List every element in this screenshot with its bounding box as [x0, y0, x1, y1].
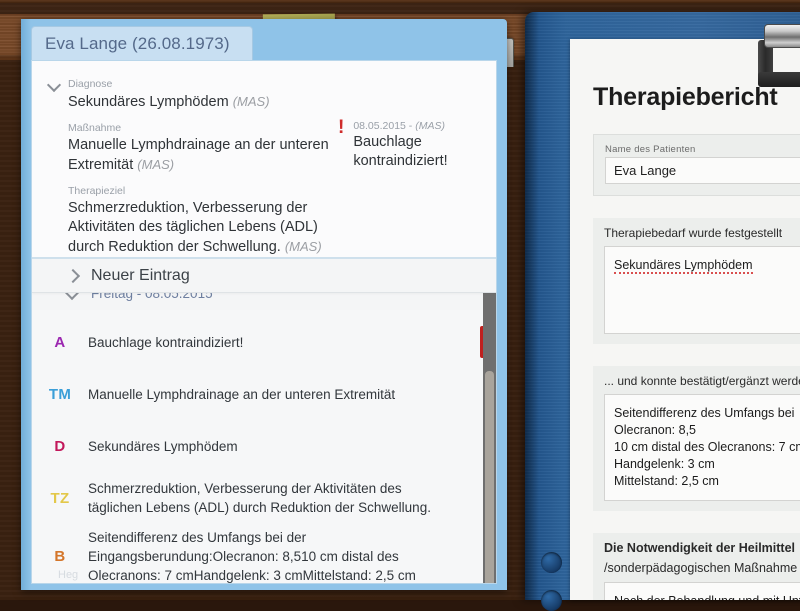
necessity-subheading: /sonderpädagogischen Maßnahme [604, 561, 800, 575]
field-massnahme-text: Manuelle Lymphdrainage an der unteren Ex… [68, 137, 329, 173]
new-entry-button[interactable]: Neuer Eintrag [32, 258, 496, 293]
warning-date-text: 08.05.2015 - [353, 120, 415, 132]
field-diagnose-author: (MAS) [233, 94, 270, 109]
need-textarea[interactable]: Sekundäres Lymphödem [604, 246, 800, 334]
chevron-down-icon[interactable] [48, 77, 61, 90]
list-item[interactable]: D Sekundäres Lymphödem [32, 420, 496, 472]
entry-badge: A [32, 334, 88, 351]
footer-hint: Heg [58, 569, 78, 581]
field-diagnose-text: Sekundäres Lymphödem [68, 94, 229, 110]
field-diagnose-value: Sekundäres Lymphödem (MAS) [68, 92, 358, 112]
chevron-down-icon [66, 293, 79, 298]
patient-name-group: Name des Patienten Eva Lange [593, 134, 800, 196]
day-group-header[interactable]: Freitag - 08.05.2015 [32, 293, 496, 310]
need-heading: Therapiebedarf wurde festgestellt [604, 226, 800, 240]
clipboard: Therapiebericht Name des Patienten Eva L… [525, 12, 800, 600]
entry-badge: D [32, 438, 88, 455]
scrollbar-thumb[interactable] [485, 371, 494, 584]
entry-badge: TM [32, 386, 88, 403]
exclamation-icon: ! [338, 119, 344, 171]
field-massnahme-author: (MAS) [137, 157, 174, 172]
necessity-textarea[interactable]: Nach der Behandlung und mit Unter rechte… [604, 582, 800, 600]
field-diagnose-label: Diagnose [68, 77, 358, 91]
metal-clip-icon[interactable] [752, 18, 800, 82]
field-therapieziel-value: Schmerzreduktion, Verbesserung der Aktiv… [68, 199, 358, 257]
vertical-scrollbar[interactable] [483, 259, 496, 583]
clipboard-shadow [525, 12, 539, 600]
clip-foot [758, 72, 800, 87]
warning-text: Bauchlage kontraindiziert! [353, 133, 490, 171]
list-item[interactable]: A Bauchlage kontraindiziert! ! [32, 316, 496, 368]
field-therapieziel: Therapieziel Schmerzreduktion, Verbesser… [68, 184, 358, 257]
need-value: Sekundäres Lymphödem [614, 258, 753, 274]
field-massnahme-label: Maßnahme [68, 121, 358, 135]
need-section: Therapiebedarf wurde festgestellt Sekund… [593, 218, 800, 344]
entry-badge: B [32, 548, 88, 565]
patient-card: Eva Lange (26.08.1973) Diagnose Sekundär… [21, 19, 507, 590]
patient-card-body: Diagnose Sekundäres Lymphödem (MAS) Maßn… [31, 60, 497, 584]
confirm-heading: ... und konnte bestätigt/ergänzt werden [604, 374, 800, 388]
entry-text: Sekundäres Lymphödem [88, 437, 268, 456]
necessity-section: Die Notwendigkeit der Heilmittel /sonder… [593, 533, 800, 600]
entry-text: Seitendifferenz des Umfangs bei der Eing… [88, 528, 480, 584]
field-therapieziel-label: Therapieziel [68, 184, 358, 198]
summary-panel: Diagnose Sekundäres Lymphödem (MAS) Maßn… [32, 61, 496, 258]
warning-date: 08.05.2015 - (MAS) [353, 119, 490, 133]
summary-fields: Diagnose Sekundäres Lymphödem (MAS) Maßn… [68, 77, 358, 266]
clip-barrel [764, 24, 800, 48]
binder-hole-2 [541, 590, 562, 611]
entry-badge: TZ [32, 490, 88, 507]
warning-author: (MAS) [415, 120, 445, 132]
binder-hole-1 [541, 552, 562, 573]
day-group-label: Freitag - 08.05.2015 [91, 293, 213, 301]
list-item[interactable]: B Seitendifferenz des Umfangs bei der Ei… [32, 524, 496, 584]
entry-text: Bauchlage kontraindiziert! [88, 333, 273, 352]
new-entry-label: Neuer Eintrag [91, 267, 190, 285]
field-massnahme-value: Manuelle Lymphdrainage an der unteren Ex… [68, 136, 358, 175]
patient-name-label: Name des Patienten [605, 144, 800, 155]
therapy-report-document: Therapiebericht Name des Patienten Eva L… [570, 39, 800, 600]
field-therapieziel-text: Schmerzreduktion, Verbesserung der Aktiv… [68, 200, 318, 255]
patient-card-title-tab[interactable]: Eva Lange (26.08.1973) [31, 26, 253, 60]
warning-note: ! 08.05.2015 - (MAS) Bauchlage kontraind… [338, 119, 490, 171]
entry-text: Manuelle Lymphdrainage an der unteren Ex… [88, 385, 425, 404]
chevron-right-icon [66, 269, 79, 282]
confirm-section: ... und konnte bestätigt/ergänzt werden … [593, 366, 800, 511]
necessity-heading: Die Notwendigkeit der Heilmittel [604, 541, 800, 555]
entry-text: Schmerzreduktion, Verbesserung der Aktiv… [88, 479, 480, 517]
patient-name-input[interactable]: Eva Lange [605, 157, 800, 184]
field-massnahme: Maßnahme Manuelle Lymphdrainage an der u… [68, 121, 358, 175]
field-diagnose: Diagnose Sekundäres Lymphödem (MAS) [68, 77, 358, 112]
list-item[interactable]: TZ Schmerzreduktion, Verbesserung der Ak… [32, 472, 496, 524]
page-title: Eva Lange (26.08.1973) [45, 34, 230, 54]
list-item[interactable]: TM Manuelle Lymphdrainage an der unteren… [32, 368, 496, 420]
confirm-textarea[interactable]: Seitendifferenz des Umfangs bei Olecrano… [604, 394, 800, 501]
entry-list: A Bauchlage kontraindiziert! ! TM Manuel… [32, 310, 496, 584]
field-therapieziel-author: (MAS) [285, 239, 322, 254]
